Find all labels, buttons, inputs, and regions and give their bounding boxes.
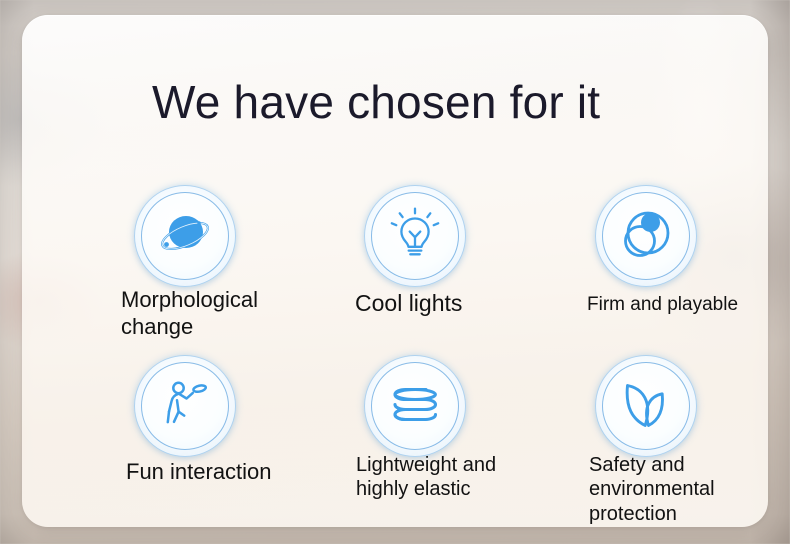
person-frisbee-icon (134, 355, 236, 457)
planet-icon (134, 185, 236, 287)
content-panel: We have chosen for it Morphological chan… (22, 15, 768, 527)
feature-item-morphological[interactable] (134, 185, 236, 287)
page-title: We have chosen for it (152, 75, 600, 129)
feature-label-cool-lights: Cool lights (355, 289, 462, 317)
coil-spring-icon (364, 355, 466, 457)
feature-item-cool-lights[interactable] (364, 185, 466, 287)
feature-item-safety[interactable] (595, 355, 697, 457)
feature-label-firm-and-playable: Firm and playable (587, 293, 738, 316)
feature-label-safety: Safety and environmental protection (589, 453, 715, 526)
lightbulb-icon (364, 185, 466, 287)
feature-label-lightweight: Lightweight and highly elastic (356, 453, 496, 502)
feature-item-lightweight[interactable] (364, 355, 466, 457)
feature-label-morphological: Morphological change (121, 287, 258, 341)
feature-label-fun-interaction: Fun interaction (126, 459, 272, 486)
feature-item-firm-and-playable[interactable] (595, 185, 697, 287)
feature-item-fun-interaction[interactable] (134, 355, 236, 457)
overlapping-circles-icon (595, 185, 697, 287)
leaves-icon (595, 355, 697, 457)
